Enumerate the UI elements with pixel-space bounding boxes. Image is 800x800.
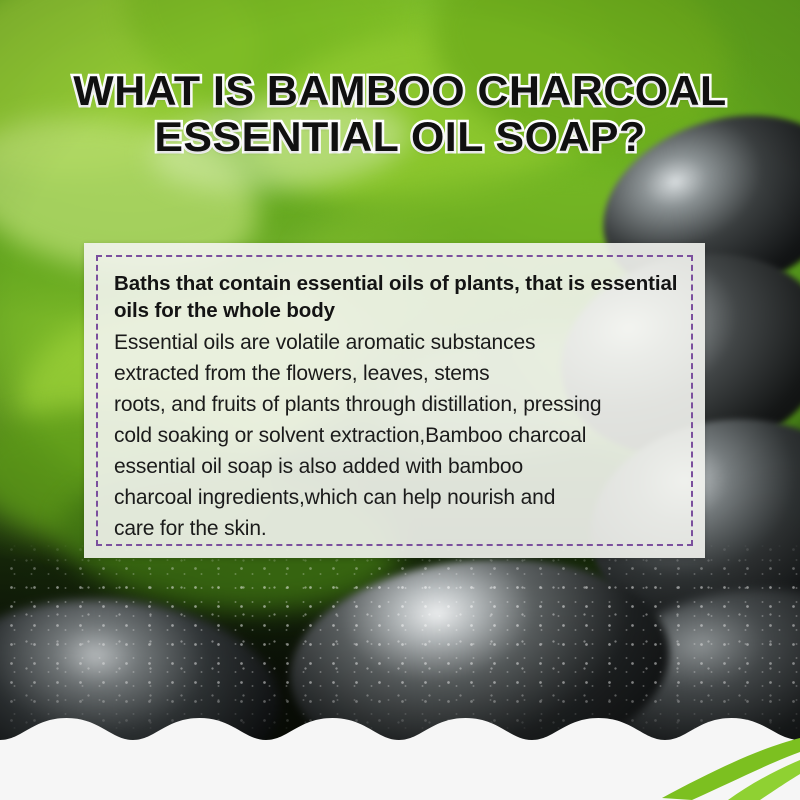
page-title: WHAT IS BAMBOO CHARCOAL ESSENTIAL OIL SO… — [0, 68, 800, 160]
poster-canvas: WHAT IS BAMBOO CHARCOAL ESSENTIAL OIL SO… — [0, 0, 800, 800]
panel-lede: Baths that contain essential oils of pla… — [114, 270, 691, 324]
description-panel: Baths that contain essential oils of pla… — [84, 243, 705, 558]
bamboo-leaf-corner-icon — [600, 690, 800, 800]
panel-body: Essential oils are volatile aromatic sub… — [114, 327, 691, 544]
panel-text-block: Baths that contain essential oils of pla… — [114, 270, 691, 544]
